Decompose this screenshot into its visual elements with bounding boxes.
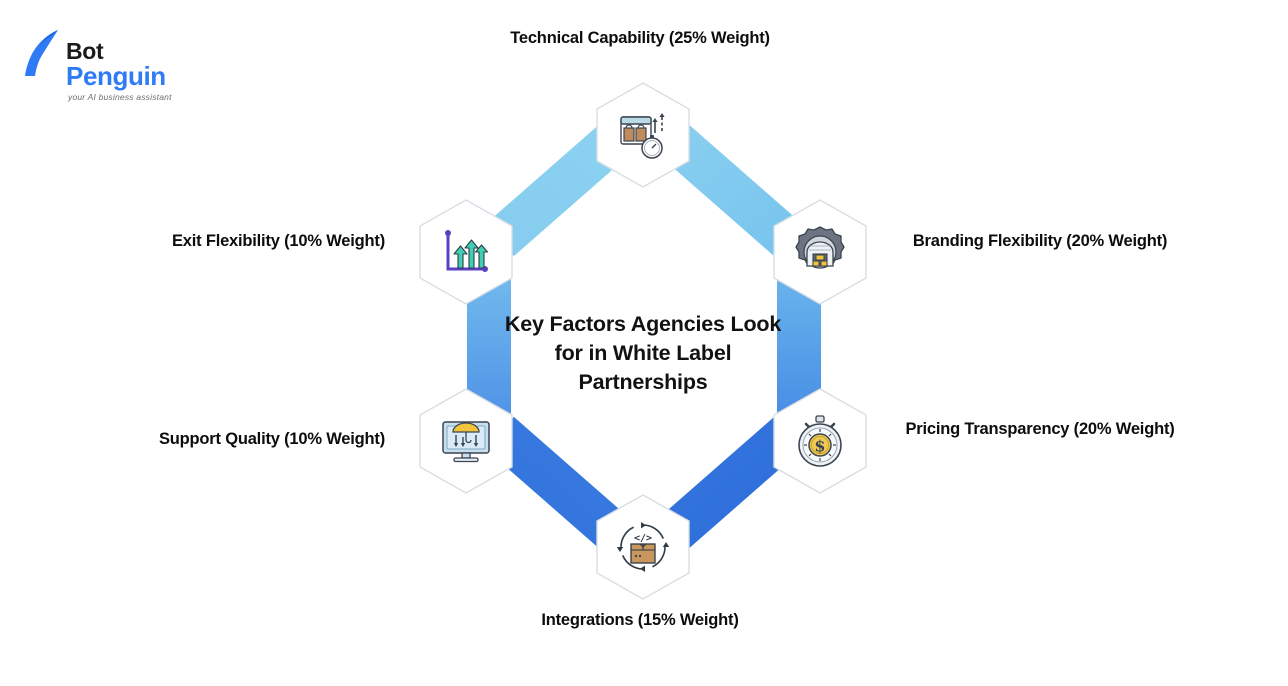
node-pricing-transparency[interactable]: $: [772, 387, 868, 495]
label-integrations: Integrations (15% Weight): [440, 609, 840, 632]
svg-text:</>: </>: [634, 533, 652, 544]
center-title: Key Factors Agencies Look for in White L…: [493, 310, 793, 397]
label-branding-flexibility: Branding Flexibility (20% Weight): [905, 230, 1175, 253]
infographic-canvas: Bot Penguin your AI business assistant: [0, 0, 1288, 686]
node-support-quality[interactable]: [418, 387, 514, 495]
logo-text-penguin: Penguin: [66, 61, 166, 92]
node-exit-flexibility[interactable]: [418, 198, 514, 306]
stopwatch-dollar-coin-icon: $: [792, 413, 848, 469]
svg-text:$: $: [814, 437, 825, 456]
botpenguin-logo: Bot Penguin your AI business assistant: [18, 20, 218, 92]
node-technical-capability[interactable]: [595, 81, 691, 189]
node-integrations[interactable]: </>: [595, 493, 691, 601]
browser-shopping-bags-stopwatch-icon: [615, 107, 671, 163]
penguin-icon: [18, 28, 62, 80]
label-technical-capability: Technical Capability (25% Weight): [435, 27, 845, 50]
logo-tagline: your AI business assistant: [68, 92, 172, 102]
label-exit-flexibility: Exit Flexibility (10% Weight): [60, 230, 385, 253]
label-support-quality: Support Quality (10% Weight): [60, 428, 385, 451]
label-pricing-transparency: Pricing Transparency (20% Weight): [900, 418, 1180, 441]
bar-chart-arrows-icon: [438, 224, 494, 280]
code-box-sync-arrows-icon: </>: [615, 519, 671, 575]
gear-warehouse-boxes-icon: [792, 224, 848, 280]
node-branding-flexibility[interactable]: [772, 198, 868, 306]
monitor-umbrella-arrows-icon: [438, 413, 494, 469]
